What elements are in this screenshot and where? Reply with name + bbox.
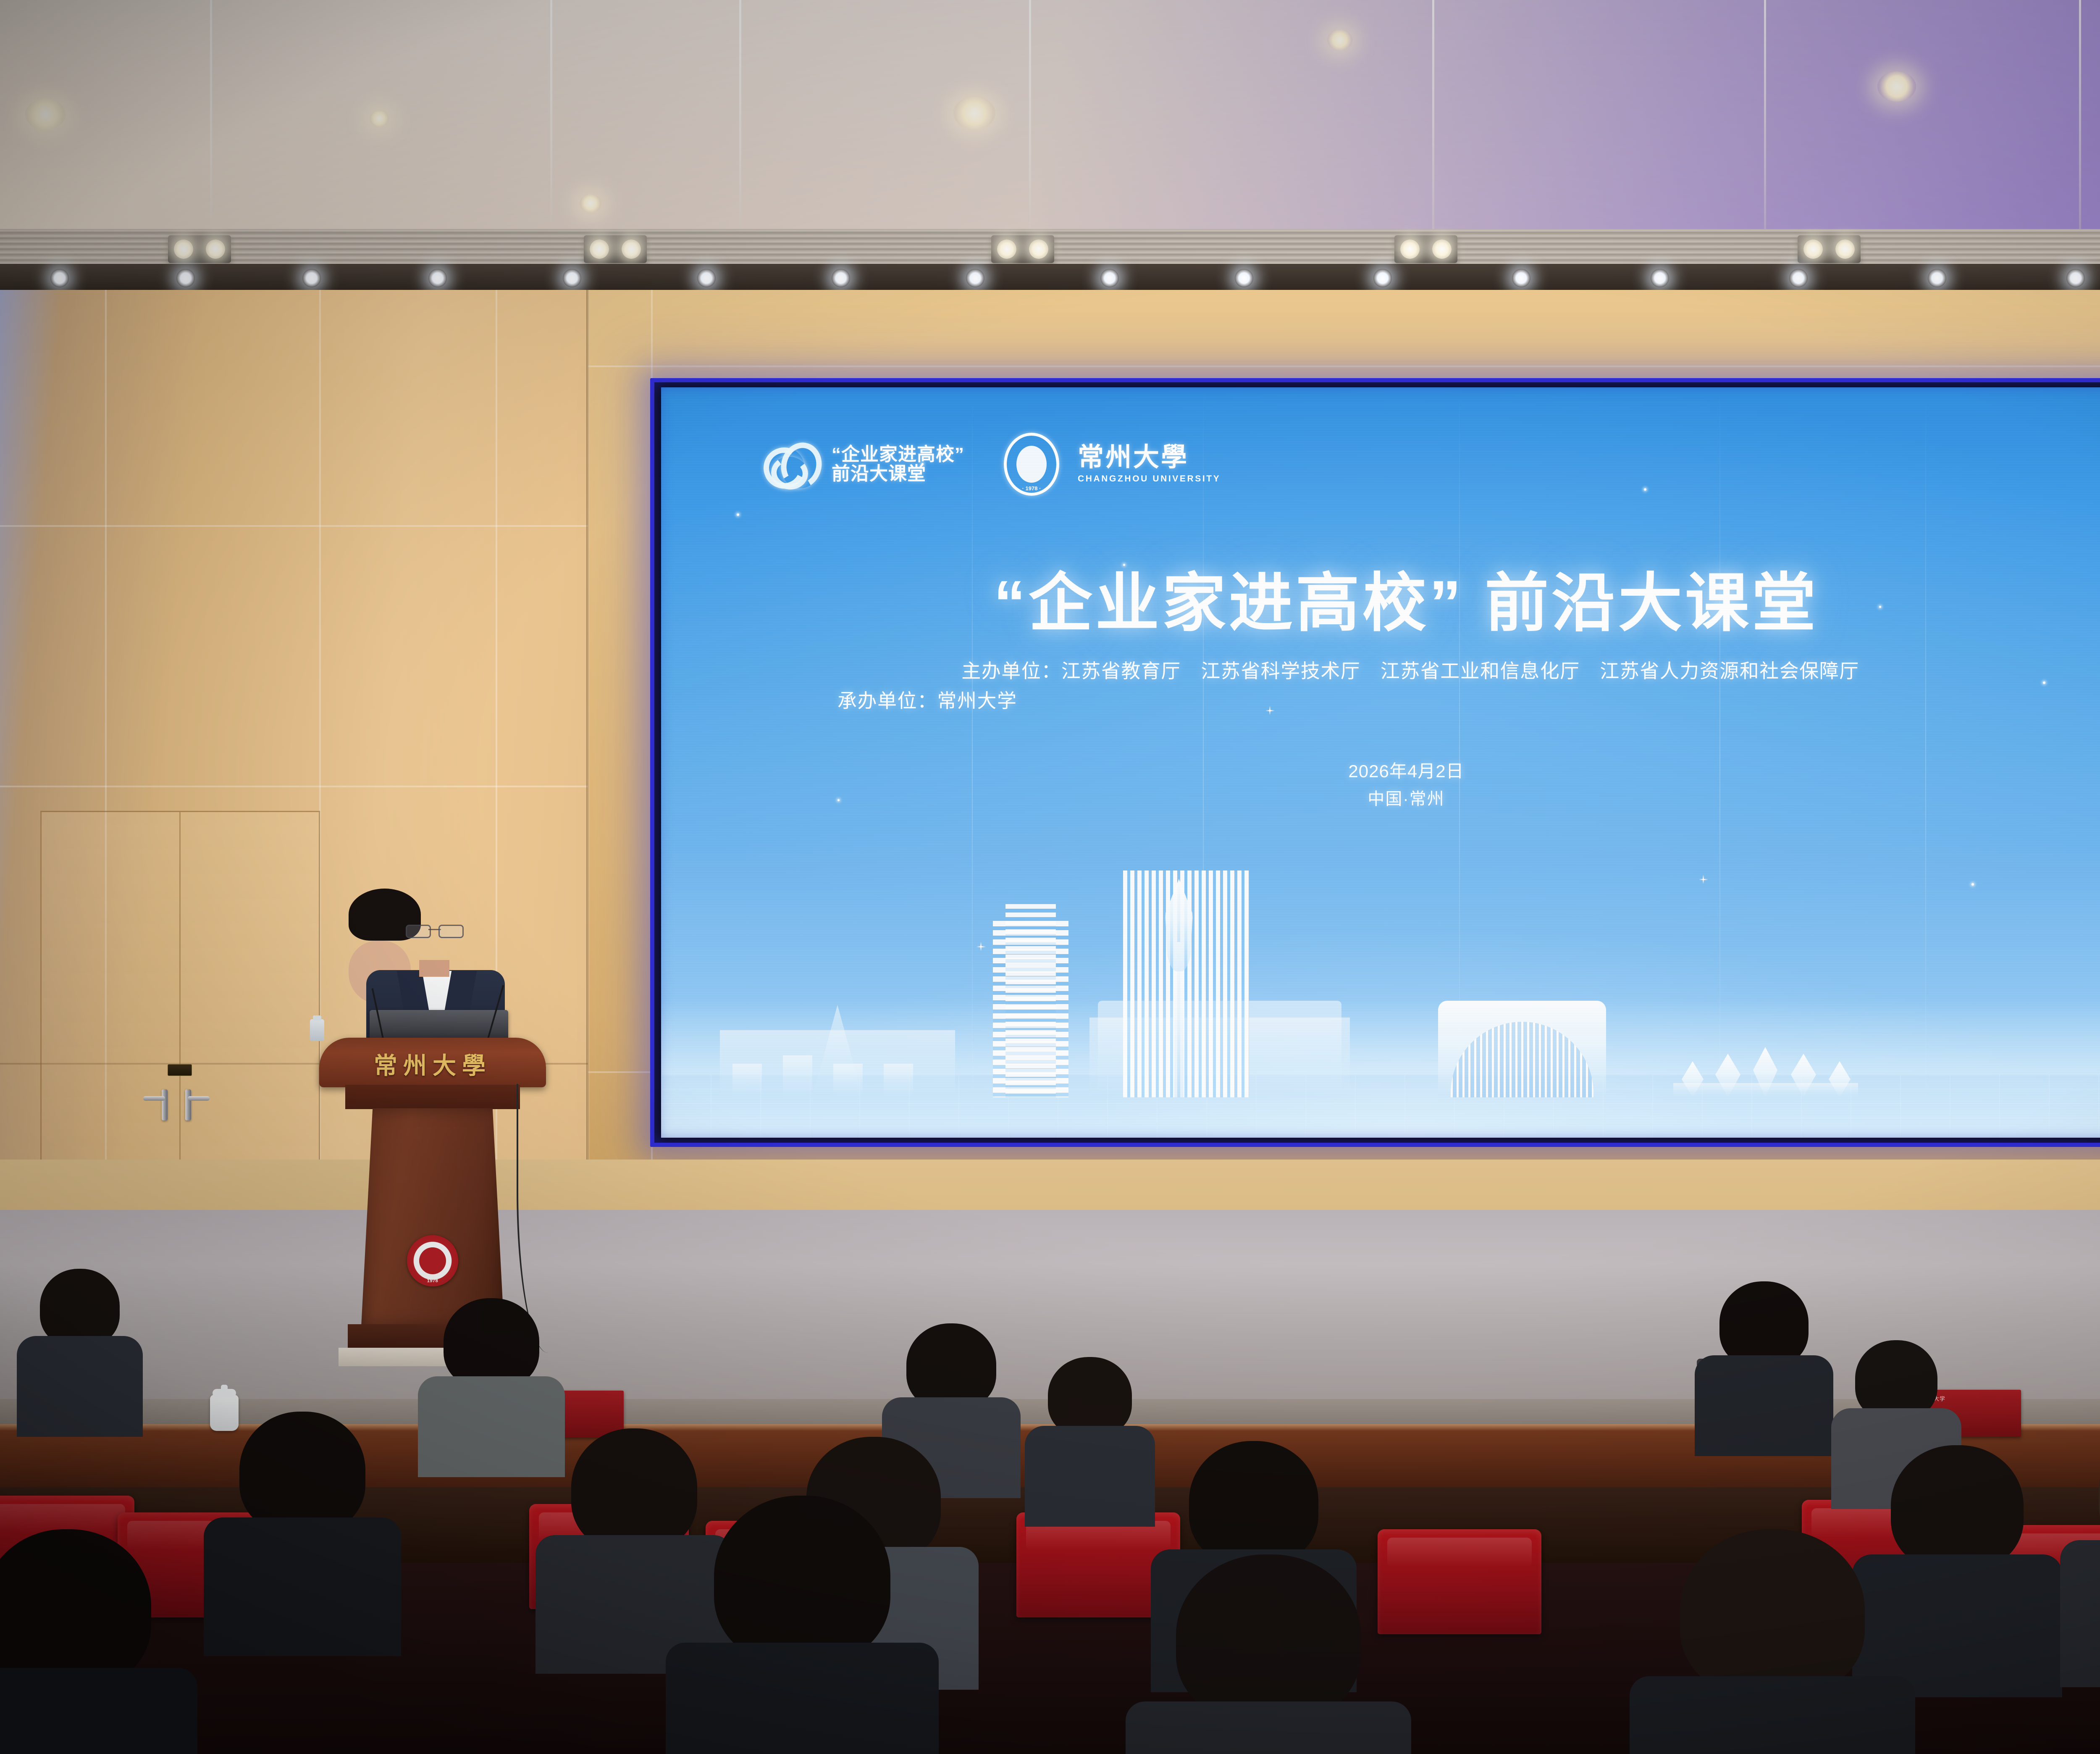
ceiling-downlight-icon [25,99,66,130]
ceiling-downlight-icon [1877,71,1916,102]
lectern-seal-year: 1978 [407,1278,458,1283]
audience-member [1705,1281,1823,1437]
city-skyline-graphic [661,862,2100,1097]
seal-year: · 1978 · [1007,485,1056,492]
event-title: “企业家进高校” 前沿大课堂 [661,551,2100,644]
laptop-icon [370,1010,508,1039]
door-handle-icon[interactable] [162,1089,168,1120]
auditorium-photo: “企业家进高校” 前沿大课堂 · 1978 · 常州大學 CHANGZHOU U… [0,0,2100,1754]
audience-member [1873,1445,2041,1680]
university-seal-icon: · 1978 · [1004,433,1059,496]
audience-member [25,1269,134,1428]
stage-spotlight-icon [1394,235,1457,263]
event-location: 中国·常州 [661,785,2100,810]
audience-member [1663,1529,1882,1754]
event-logo-line1: “企业家进高校” [832,445,964,464]
door-handle-icon[interactable] [185,1089,191,1120]
organizers-line: 主办单位：江苏省教育厅 江苏省科学技术厅 江苏省工业和信息化厅 江苏省人力资源和… [661,656,2100,686]
auditorium-seat [1378,1529,1541,1634]
ceiling [0,0,2100,294]
eyeglasses-icon [406,924,464,936]
audience-member [697,1496,907,1754]
ceiling-downlight-icon [370,110,389,127]
university-seal-icon: 1978 [407,1235,458,1286]
university-name-block: 常州大學 CHANGZHOU UNIVERSITY [1078,444,1221,484]
stage-spotlight-icon [1798,235,1861,263]
screen-logo-row: “企业家进高校” 前沿大课堂 · 1978 · 常州大學 CHANGZHOU U… [764,433,1221,496]
organizer-block: 主办单位：江苏省教育厅 江苏省科学技术厅 江苏省工业和信息化厅 江苏省人力资源和… [661,656,2100,716]
event-date: 2026年4月2日 [661,757,2100,783]
door-plate [168,1064,192,1076]
audience-member [2083,1428,2100,1672]
audience-member [1033,1357,1147,1500]
led-display-screen: “企业家进高校” 前沿大课堂 · 1978 · 常州大學 CHANGZHOU U… [650,378,2100,1147]
audience-member [0,1529,168,1754]
water-bottle-icon [310,1019,324,1041]
ceiling-downlight-icon [580,194,601,213]
lectern-top: 常州大學 [319,1038,546,1087]
stage-spotlight-icon [584,235,647,263]
audience-member [428,1298,554,1458]
screen-content: “企业家进高校” 前沿大课堂 · 1978 · 常州大學 CHANGZHOU U… [661,387,2100,1138]
interlocking-loop-icon [764,442,813,486]
audience-member [554,1428,714,1664]
university-name-en: CHANGZHOU UNIVERSITY [1078,474,1221,484]
stage-spotlight-icon [168,235,231,263]
ceiling-downlight-icon [953,97,995,129]
ceiling-downlight-icon [1327,29,1352,50]
stage-spotlight-icon [991,235,1054,263]
audience-member [223,1412,382,1647]
lectern-body [361,1108,504,1327]
lectern-name-plate: 常州大學 [319,1047,546,1081]
university-name-cn: 常州大學 [1078,444,1221,471]
audience-member [1159,1554,1378,1754]
event-logo-text: “企业家进高校” 前沿大课堂 [832,445,964,484]
event-logo-line2: 前沿大课堂 [832,464,964,484]
host-line: 承办单位：常州大学 [661,686,2100,716]
date-location-block: 2026年4月2日 中国·常州 [661,757,2100,810]
